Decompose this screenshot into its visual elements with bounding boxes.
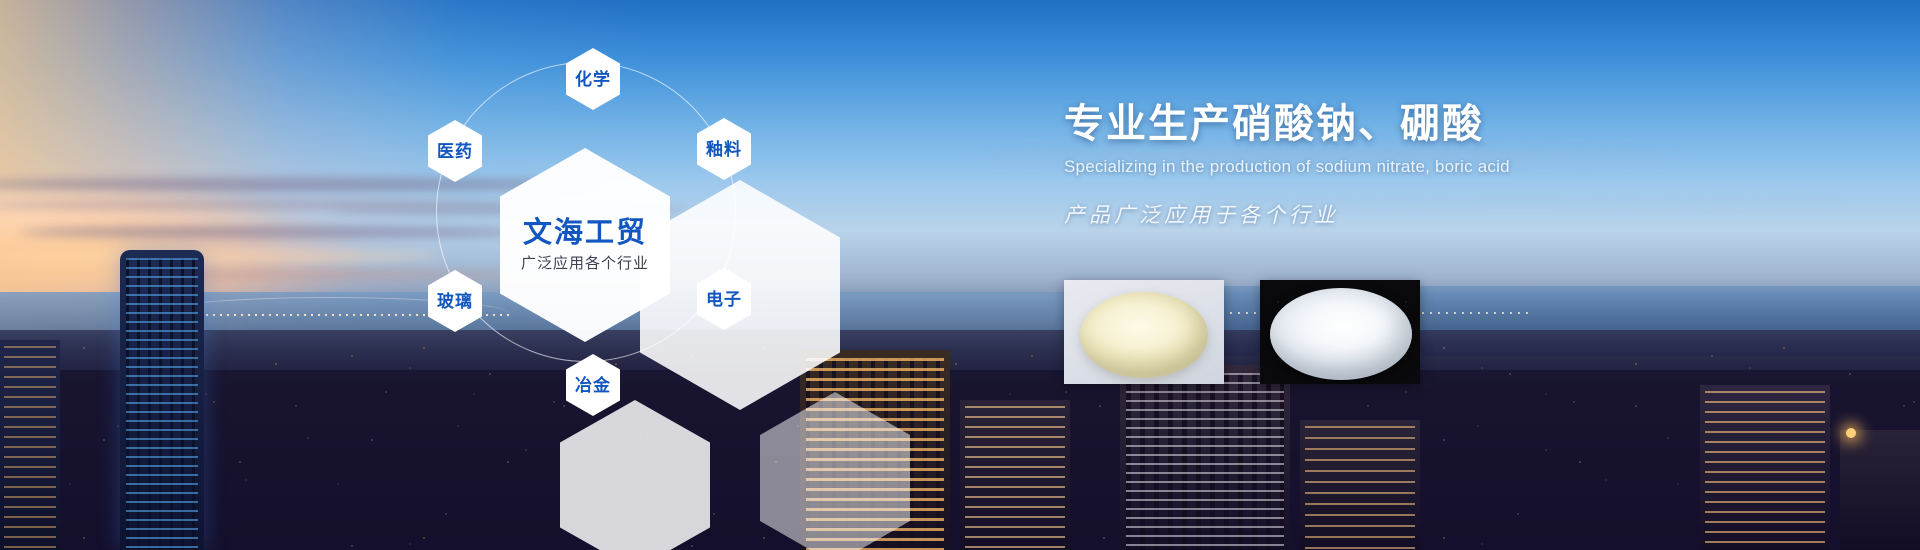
skyscraper — [1300, 420, 1420, 550]
skyscraper — [1700, 385, 1830, 550]
banner-copy: 专业生产硝酸钠、硼酸 Specializing in the productio… — [1064, 102, 1884, 229]
hex-metallurgy-label: 冶金 — [575, 377, 611, 394]
banner-subheadline: Specializing in the production of sodium… — [1064, 157, 1884, 177]
powder-speckle — [1260, 280, 1420, 384]
hex-electronics-label: 电子 — [706, 291, 742, 308]
skyscraper — [960, 400, 1070, 550]
decorative-hexagon — [560, 400, 710, 550]
hex-chemical-label: 化学 — [575, 71, 611, 88]
brand-slogan: 广泛应用各个行业 — [521, 256, 649, 271]
industry-hexagon-diagram: 化学 釉料 电子 冶金 玻璃 医药 文海工贸 广泛应用各个行业 — [0, 0, 860, 550]
product-photo-sodium-nitrate[interactable] — [1064, 280, 1224, 384]
hex-metallurgy[interactable]: 冶金 — [566, 354, 620, 416]
brand-name: 文海工贸 — [523, 219, 647, 248]
tower-beacon-light — [1846, 428, 1856, 438]
product-photo-group — [1064, 280, 1420, 384]
powder-speckle — [1064, 280, 1224, 384]
product-photo-boric-acid[interactable] — [1260, 280, 1420, 384]
hex-glaze-label: 釉料 — [706, 141, 742, 158]
banner-headline: 专业生产硝酸钠、硼酸 — [1064, 102, 1884, 146]
banner-tagline: 产品广泛应用于各个行业 — [1064, 199, 1884, 229]
hex-pharmaceutical-label: 医药 — [437, 143, 473, 160]
hero-banner: 化学 釉料 电子 冶金 玻璃 医药 文海工贸 广泛应用各个行业 专业生产硝酸钠、… — [0, 0, 1920, 550]
hex-glass-label: 玻璃 — [437, 293, 473, 310]
skyscraper — [1840, 430, 1920, 550]
skyscraper — [1120, 365, 1290, 550]
